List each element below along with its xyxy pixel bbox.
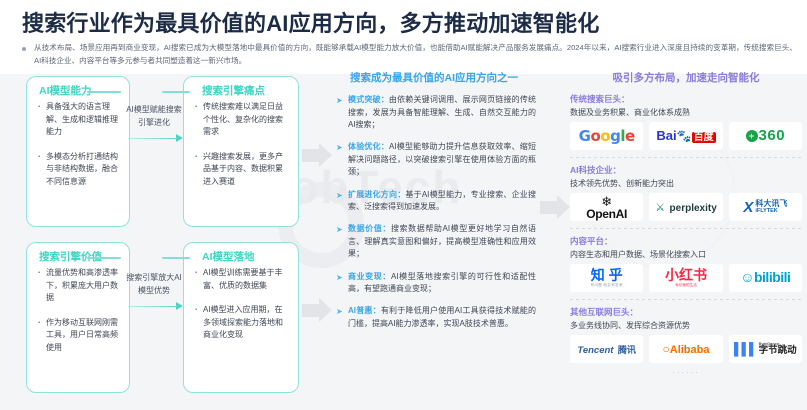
card-rule — [87, 257, 121, 259]
divider — [570, 299, 802, 300]
list-item: 具备强大的语言理解、生成和逻辑推理能力 — [35, 101, 121, 139]
group-label: AI科技企业： — [570, 164, 802, 176]
card-title: AI模型能力 — [39, 83, 92, 98]
logo-row: 知 乎 有问题 就会有答案 小红书 标记我的生活 ☺bilibili — [570, 264, 802, 292]
logo-bytedance[interactable]: ▌▌▌ ByteDance 字节跳动 — [729, 335, 802, 363]
logo-baidu[interactable]: Bai🐾百度 — [649, 122, 722, 150]
card-bullet-list: 具备强大的语言理解、生成和逻辑推理能力 多模态分析打通结构与非结构数据，融合不同… — [35, 101, 121, 201]
logo-bilibili[interactable]: ☺bilibili — [729, 264, 802, 292]
connector-label: 搜索引擎放大AI模型优势 — [126, 272, 182, 297]
card-title: 搜索引擎痛点 — [202, 83, 265, 98]
logo-row: ❄ OpenAI ⚔ perplexity X 科大讯飞 iFLYTEK — [570, 193, 802, 221]
center-point: ➤数据价值：搜索数据帮助AI模型更好地学习自然语言、理解真实意图和偏好，提高模型… — [336, 223, 536, 261]
center-point: ➤模式突破：由依赖关键词调用、展示网页链接的传统搜索，发展为具备智能理解、生成、… — [336, 94, 536, 132]
triangle-bullet-icon: ➤ — [336, 224, 343, 235]
card-title: AI模型落地 — [202, 249, 255, 264]
logo-openai[interactable]: ❄ OpenAI — [570, 193, 643, 221]
flow-arrow-icon — [302, 143, 333, 168]
center-point: ➤AI普惠：有利于降低用户使用AI工具获得技术赋能的门槛，提高AI能力渗透率，实… — [336, 305, 536, 330]
bilibili-tv-icon: ☺ — [740, 269, 754, 285]
group-desc: 数据及业务积累、商业化体系成熟 — [570, 107, 802, 118]
connector-ai-empowers-search: AI模型赋能搜索引擎进化 — [126, 104, 182, 143]
list-item: 流量优势和高渗透率下，积累庞大用户数据 — [35, 267, 121, 305]
point-lead: 数据价值： — [348, 224, 391, 233]
group-desc: 技术领先优势、创新能力突出 — [570, 178, 802, 189]
center-point: ➤扩展进化方向：基于AI模型能力，专业搜索、企业搜索、泛搜索得到加速发展。 — [336, 189, 536, 214]
card-rule-left — [162, 257, 190, 259]
group-ai-tech-companies: AI科技企业： 技术领先优势、创新能力突出 ❄ OpenAI ⚔ perplex… — [570, 164, 802, 221]
flow-arrow-icon — [302, 298, 333, 323]
right-panel: 吸引多方布局，加速走向智能化 传统搜索巨头： 数据及业务积累、商业化体系成熟 G… — [570, 70, 802, 410]
list-item: 兴趣搜索发展，更多产品基于内容、数据积累进入赛道 — [192, 151, 290, 189]
list-item: 作为移动互联网刚需工具，用户日常高频使用 — [35, 317, 121, 355]
card-ai-model-capability: AI模型能力 具备强大的语言理解、生成和逻辑推理能力 多模态分析打通结构与非结构… — [26, 76, 130, 227]
openai-knot-icon: ❄ — [601, 195, 612, 208]
perplexity-mark-icon: ⚔ — [655, 202, 665, 214]
alibaba-mark-icon: ○ — [663, 342, 670, 356]
flow-arrow-icon — [540, 195, 571, 220]
card-bullet-list: 流量优势和高渗透率下，积累庞大用户数据 作为移动互联网刚需工具，用户日常高频使用 — [35, 267, 121, 367]
logo-alibaba[interactable]: ○Alibaba — [649, 335, 722, 363]
right-panel-title: 吸引多方布局，加速走向智能化 — [570, 70, 802, 85]
triangle-bullet-icon: ➤ — [336, 142, 343, 153]
header: 搜索行业作为最具价值的AI应用方向，多方推动加速智能化 从技术布局、场景应用再到… — [0, 0, 807, 74]
bytedance-bars-icon: ▌▌▌ — [734, 342, 757, 356]
logo-iflytek[interactable]: X 科大讯飞 iFLYTEK — [729, 193, 802, 221]
card-bullet-list: AI模型训练需要基于丰富、优质的数据集 AI模型进入应用期，在多领域探索能力落地… — [192, 267, 290, 354]
group-label: 传统搜索巨头： — [570, 93, 802, 105]
page-title: 搜索行业作为最具价值的AI应用方向，多方推动加速智能化 — [22, 6, 599, 38]
point-lead: 模式突破： — [348, 95, 389, 104]
more-indicator: ······ — [570, 368, 802, 377]
logo-xiaohongshu[interactable]: 小红书 标记我的生活 — [649, 264, 722, 292]
point-lead: 商业变现： — [348, 272, 391, 281]
point-lead: 体验优化： — [348, 142, 389, 151]
logo-tencent[interactable]: Tencent 腾讯 — [570, 335, 643, 363]
group-label: 内容平台： — [570, 235, 802, 247]
connector-label: AI模型赋能搜索引擎进化 — [126, 104, 182, 129]
triangle-bullet-icon: ➤ — [336, 272, 343, 283]
point-lead: 扩展进化方向： — [348, 190, 405, 199]
summary-text: 从技术布局、场景应用再到商业变现，AI搜索已成为大模型落地中最具价值的方向，既能… — [34, 41, 797, 67]
list-item: 多模态分析打通结构与非结构数据，融合不同信息源 — [35, 151, 121, 189]
card-bullet-list: 传统搜索难以满足日益个性化、复杂化的搜索需求 兴趣搜索发展，更多产品基于内容、数… — [192, 101, 290, 201]
logo-row: Tencent 腾讯 ○Alibaba ▌▌▌ ByteDance 字节跳动 — [570, 335, 802, 363]
arrow-right-icon — [126, 303, 182, 311]
list-item: 传统搜索难以满足日益个性化、复杂化的搜索需求 — [192, 101, 290, 139]
card-search-engine-painpoint: 搜索引擎痛点 传统搜索难以满足日益个性化、复杂化的搜索需求 兴趣搜索发展，更多产… — [183, 76, 299, 227]
center-panel: 搜索成为最具价值的AI应用方向之一 ➤模式突破：由依赖关键词调用、展示网页链接的… — [336, 70, 536, 406]
card-rule — [87, 91, 121, 93]
group-content-platforms: 内容平台： 内容生态和用户数据、场景化搜索入口 知 乎 有问题 就会有答案 小红… — [570, 235, 802, 292]
logo-360[interactable]: +360 — [729, 122, 802, 150]
group-other-internet-giants: 其他互联网巨头： 多业务线协同、发挥综合资源优势 Tencent 腾讯 ○Ali… — [570, 306, 802, 363]
divider — [570, 228, 802, 229]
point-lead: AI普惠： — [348, 306, 381, 315]
connector-search-amplifies-ai: 搜索引擎放大AI模型优势 — [126, 272, 182, 311]
triangle-bullet-icon: ➤ — [336, 95, 343, 106]
center-point: ➤体验优化：AI模型能够助力提升信息获取效率、缩短解决问题路径，以突破搜索引擎在… — [336, 141, 536, 179]
card-ai-model-landing: AI模型落地 AI模型训练需要基于丰富、优质的数据集 AI模型进入应用期，在多领… — [183, 242, 299, 393]
logo-perplexity[interactable]: ⚔ perplexity — [649, 193, 722, 221]
group-desc: 内容生态和用户数据、场景化搜索入口 — [570, 249, 802, 260]
slide-root: MobTech 搜索行业作为最具价值的AI应用方向，多方推动加速智能化 从技术布… — [0, 0, 807, 410]
divider — [570, 157, 802, 158]
list-item: AI模型训练需要基于丰富、优质的数据集 — [192, 267, 290, 292]
summary-block: 从技术布局、场景应用再到商业变现，AI搜索已成为大模型落地中最具价值的方向，既能… — [22, 41, 797, 67]
triangle-bullet-icon: ➤ — [336, 306, 343, 317]
logo-google[interactable]: Google — [570, 122, 643, 150]
card-rule-left — [162, 91, 190, 93]
logo-row: Google Bai🐾百度 +360 — [570, 122, 802, 150]
list-item: AI模型进入应用期，在多领域探索能力落地和商业化变现 — [192, 304, 290, 342]
arrow-right-icon — [126, 135, 182, 143]
group-traditional-search-giants: 传统搜索巨头： 数据及业务积累、商业化体系成熟 Google Bai🐾百度 +3… — [570, 93, 802, 150]
logo-zhihu[interactable]: 知 乎 有问题 就会有答案 — [570, 264, 643, 292]
center-panel-title: 搜索成为最具价值的AI应用方向之一 — [332, 70, 536, 85]
bullet-dot-icon — [22, 47, 26, 51]
group-desc: 多业务线协同、发挥综合资源优势 — [570, 320, 802, 331]
card-search-engine-value: 搜索引擎价值 流量优势和高渗透率下，积累庞大用户数据 作为移动互联网刚需工具，用… — [26, 242, 130, 393]
group-label: 其他互联网巨头： — [570, 306, 802, 318]
center-point: ➤商业变现：AI模型落地搜索引擎的可行性和适配性高，有望跑通商业变现； — [336, 271, 536, 296]
triangle-bullet-icon: ➤ — [336, 190, 343, 201]
